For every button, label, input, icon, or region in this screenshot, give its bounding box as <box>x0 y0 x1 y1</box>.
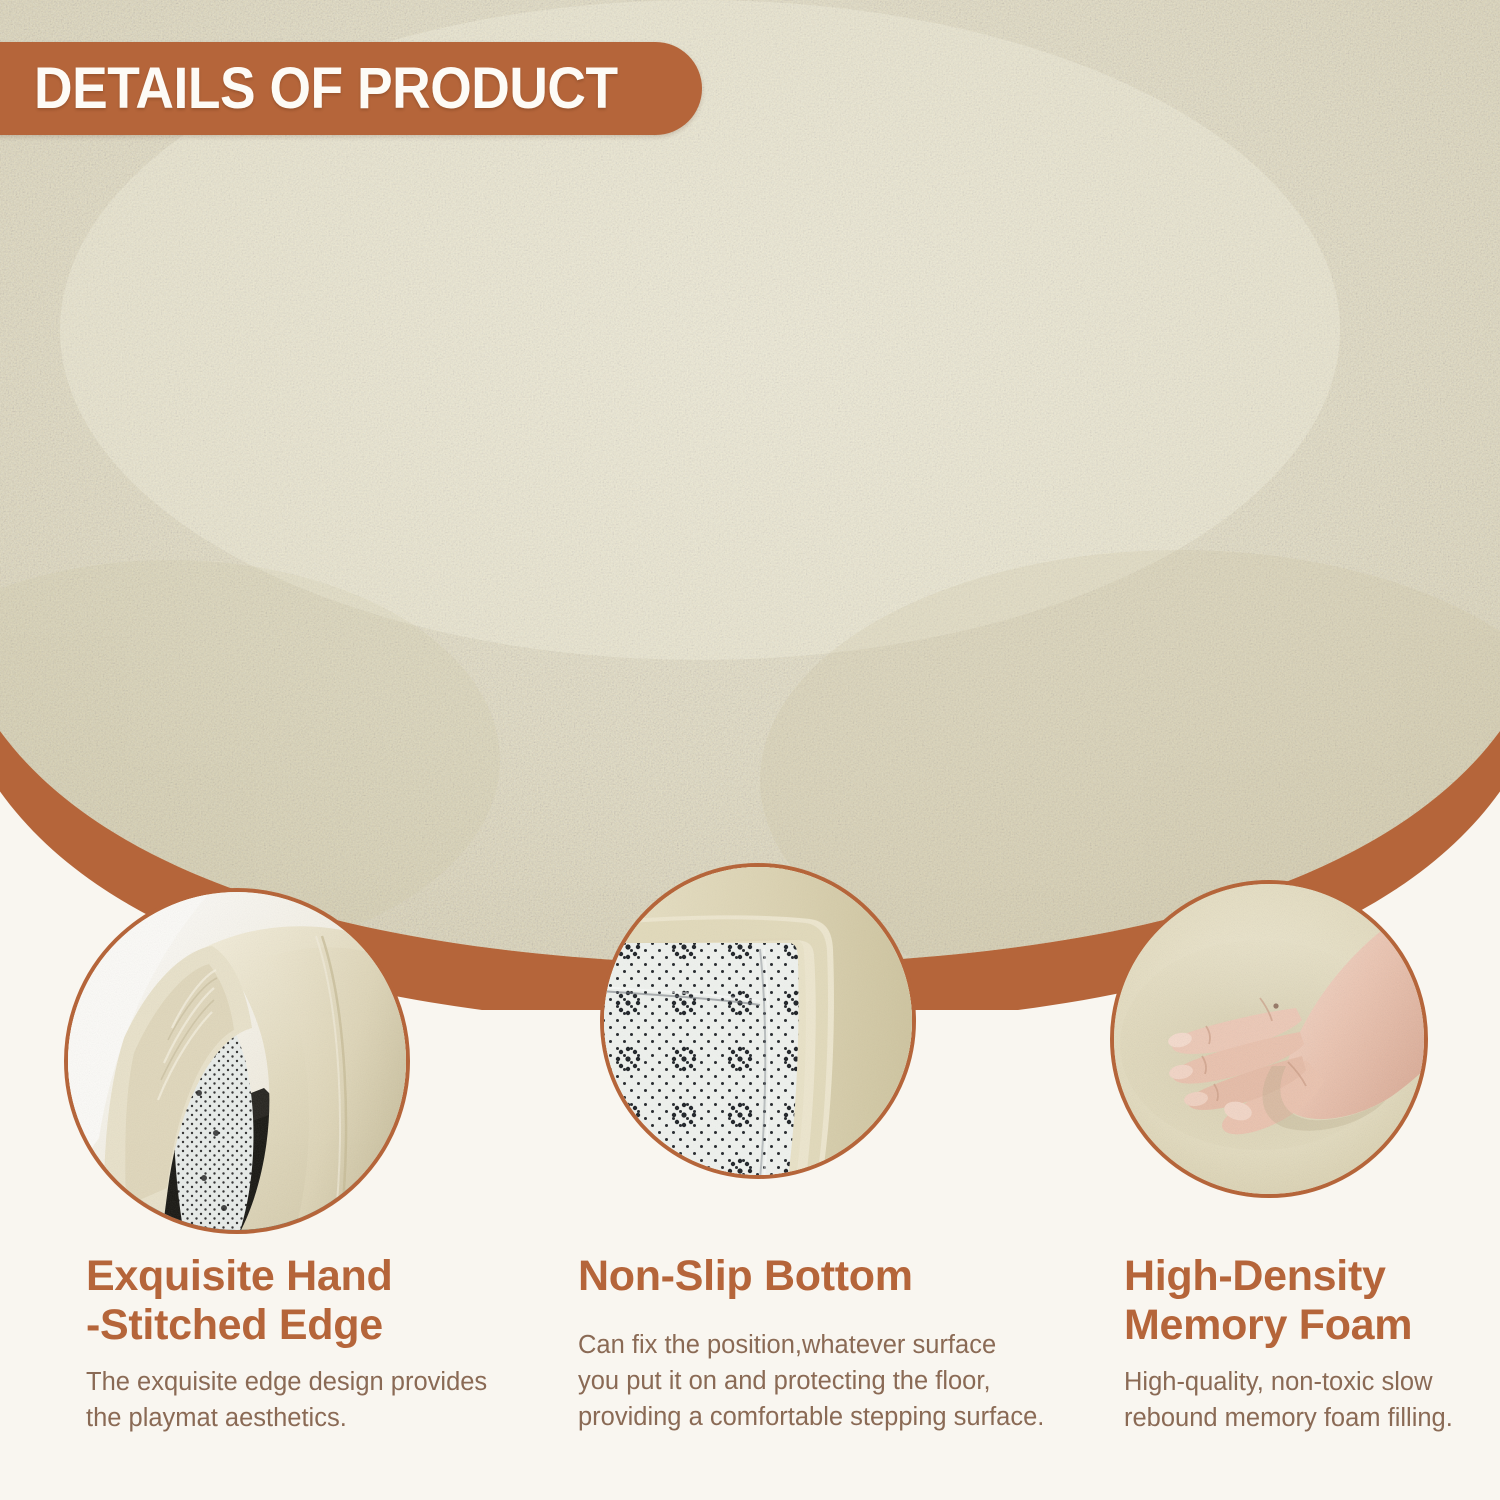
feature-title-3: High-Density Memory Foam <box>1124 1252 1500 1350</box>
feature-body-1: The exquisite edge design provides the p… <box>86 1364 516 1436</box>
stitched-edge-photo <box>64 888 410 1234</box>
hero-product-image <box>0 0 1500 1010</box>
feature-image-non-slip-bottom <box>600 863 916 1179</box>
feature-title-1-line-2: -Stitched Edge <box>86 1301 516 1350</box>
memory-foam-photo <box>1110 880 1428 1198</box>
feature-text-non-slip-bottom: Non-Slip Bottom Can fix the position,wha… <box>578 1252 1048 1436</box>
infographic-canvas: DETAILS OF PRODUCT <box>0 0 1500 1500</box>
feature-body-3-line-2: rebound memory foam filling. <box>1124 1400 1500 1436</box>
feature-title-1: Exquisite Hand -Stitched Edge <box>86 1252 516 1350</box>
feature-title-2-line-1: Non-Slip Bottom <box>578 1252 1048 1301</box>
feature-title-3-line-1: High-Density <box>1124 1252 1500 1301</box>
feature-title-1-line-1: Exquisite Hand <box>86 1252 516 1301</box>
feature-body-1-line-1: The exquisite edge design provides <box>86 1364 516 1400</box>
section-title-banner: DETAILS OF PRODUCT <box>0 42 702 135</box>
feature-text-exquisite-hand-stitched-edge: Exquisite Hand -Stitched Edge The exquis… <box>86 1252 516 1436</box>
feature-image-exquisite-hand-stitched-edge <box>64 888 410 1234</box>
feature-text-high-density-memory-foam: High-Density Memory Foam High-quality, n… <box>1124 1252 1500 1436</box>
feature-body-1-line-2: the playmat aesthetics. <box>86 1400 516 1436</box>
feature-title-3-line-2: Memory Foam <box>1124 1301 1500 1350</box>
feature-body-2-line-1: Can fix the position,whatever surface <box>578 1327 1048 1363</box>
feature-body-2: Can fix the position,whatever surface yo… <box>578 1327 1048 1436</box>
feature-body-2-line-3: providing a comfortable stepping surface… <box>578 1399 1048 1435</box>
page-title: DETAILS OF PRODUCT <box>34 60 618 118</box>
non-slip-bottom-photo <box>600 863 916 1179</box>
feature-body-2-line-2: you put it on and protecting the floor, <box>578 1363 1048 1399</box>
feature-title-2: Non-Slip Bottom <box>578 1252 1048 1301</box>
mat-fabric-body <box>0 0 1500 1010</box>
mat-illustration <box>0 0 1500 1010</box>
feature-body-3-line-1: High-quality, non-toxic slow <box>1124 1364 1500 1400</box>
feature-body-3: High-quality, non-toxic slow rebound mem… <box>1124 1364 1500 1436</box>
feature-image-high-density-memory-foam <box>1110 880 1428 1198</box>
